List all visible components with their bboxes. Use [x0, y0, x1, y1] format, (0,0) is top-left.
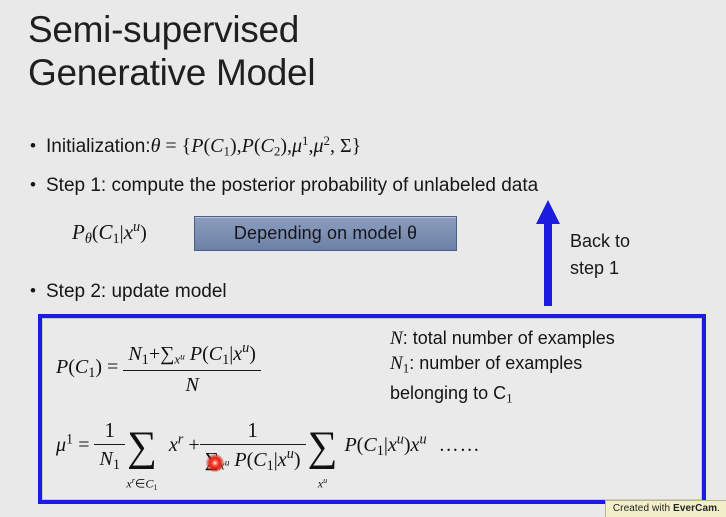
eq2-tail-x-sup: u	[397, 431, 404, 447]
up-arrow-icon	[535, 200, 561, 306]
eq1-num-close: )	[249, 343, 256, 365]
depending-on-model-box: Depending on model θ	[194, 216, 457, 251]
eq2-term-x: x	[169, 434, 178, 456]
init-paren4: ),	[280, 135, 292, 157]
title-line-1: Semi-supervised	[28, 8, 588, 51]
back-caption-line-1: Back to	[570, 228, 630, 255]
eq1-equals: =	[107, 356, 118, 378]
legend-line-1-text: : total number of examples	[403, 328, 615, 348]
init-equals: = {	[160, 135, 191, 157]
eq1-denominator: N	[123, 371, 261, 397]
eq2-frac1-den: N1	[94, 445, 124, 474]
bullet-marker: •	[30, 134, 46, 158]
eq2-tail-c: C	[363, 434, 376, 456]
eq2-plus: +	[188, 434, 199, 456]
eq2-frac2-den-x-sup: u	[287, 446, 294, 462]
eq2-frac2-num: 1	[200, 418, 306, 445]
eq1-c: C	[75, 356, 88, 378]
eq2-frac2-den-c-sub: 1	[267, 458, 274, 474]
watermark-suffix: .	[717, 503, 720, 514]
init-mu2: μ	[314, 135, 324, 157]
slide-canvas: Semi-supervised Generative Model •Initia…	[0, 0, 726, 517]
bullet-step-2-label: Step 2: update model	[46, 281, 227, 302]
posterior-expression: Pθ(C1|xu)	[72, 219, 147, 248]
bullet-step-2: •Step 2: update model	[30, 279, 227, 304]
init-p2: P	[242, 135, 254, 157]
bullet-initialization: •Initialization:θ = {P(C1),P(C2),μ1,μ2, …	[30, 129, 361, 164]
eq2-fraction-1: 1 N1	[94, 418, 124, 474]
eq2-fraction-2: 1 ∑xu P(C1|xu)	[200, 418, 306, 475]
init-c2: C	[261, 135, 274, 157]
eq1-numerator: N1+∑xu P(C1|xu)	[123, 340, 261, 371]
equation-mean-update: μ1 = 1 N1 ∑xr∈C1 xr + 1 ∑xu P(C1|xu) ∑xu…	[56, 418, 481, 475]
watermark-brand: EverCam	[673, 503, 717, 514]
legend-line-3: belonging to C1	[390, 381, 615, 411]
update-model-formula-box: P(C1) = N1+∑xu P(C1|xu) N μ1 = 1 N1 ∑xr∈…	[38, 314, 706, 504]
eq2-sum1-lim-c: C	[145, 477, 153, 491]
equation-prior-update: P(C1) = N1+∑xu P(C1|xu) N	[56, 340, 261, 397]
legend-line-3-text: belonging to C	[390, 383, 506, 403]
eq2-mu: μ	[56, 434, 66, 456]
legend-n1-symbol: N	[390, 353, 403, 374]
back-caption-line-2: step 1	[570, 255, 630, 282]
eq1-num-c: C	[209, 343, 222, 365]
posterior-c-sub: 1	[113, 231, 120, 247]
legend-line-2-text: : number of examples	[409, 353, 582, 373]
eq2-sum2-lim-sup: u	[323, 476, 327, 485]
formula-legend: N: total number of examples N1: number o…	[390, 326, 615, 410]
eq1-p: P	[56, 356, 68, 378]
eq2-frac2-den-x: x	[278, 449, 287, 471]
eq2-frac2-den: ∑xu P(C1|xu)	[200, 445, 306, 475]
eq2-frac1-den-sub: 1	[113, 457, 120, 473]
init-c1: C	[210, 135, 223, 157]
bullet-marker: •	[30, 173, 46, 197]
legend-line-2: N1: number of examples	[390, 351, 615, 381]
init-sigma: , Σ}	[330, 135, 361, 157]
eq2-sum-2: ∑xu	[308, 430, 338, 464]
eq1-open: (	[68, 356, 75, 378]
eq2-tail-close: )	[404, 434, 411, 456]
legend-line-1: N: total number of examples	[390, 326, 615, 351]
eq1-num-x: x	[233, 343, 242, 365]
posterior-close-paren: )	[140, 222, 147, 244]
eq2-sum2-limit: xu	[318, 464, 327, 500]
posterior-theta-sub: θ	[85, 231, 92, 247]
init-theta-symbol: θ	[151, 135, 161, 157]
eq2-frac1-den-n: N	[99, 448, 112, 470]
eq2-ellipsis: ……	[439, 434, 481, 456]
back-to-step-caption: Back to step 1	[570, 228, 630, 282]
legend-line-3-sub: 1	[506, 390, 513, 405]
eq2-sp3	[159, 434, 169, 456]
eq2-tail-p: P	[344, 434, 356, 456]
eq2-tail-mult-sup: u	[419, 431, 426, 447]
depending-on-model-label: Depending on model θ	[234, 223, 417, 244]
eq1-num-p: P	[190, 343, 202, 365]
page-title: Semi-supervised Generative Model	[28, 8, 588, 94]
posterior-c: C	[99, 220, 113, 244]
title-line-2: Generative Model	[28, 51, 588, 94]
eq2-tail-c-sub: 1	[377, 443, 384, 459]
init-mu1: μ	[292, 135, 302, 157]
eq1-num-n: N	[128, 343, 141, 365]
eq2-sum1-lim-c-sub: 1	[153, 483, 157, 492]
eq2-frac2-den-p: P	[234, 449, 246, 471]
eq2-sum-1: ∑xr∈C1	[127, 430, 157, 464]
eq1-num-n-sub: 1	[142, 352, 149, 368]
eq2-sum1-lim-in: ∈	[135, 477, 145, 491]
legend-n-symbol: N	[390, 328, 403, 349]
posterior-open-paren: (	[92, 222, 99, 244]
eq2-tail-x: x	[388, 434, 397, 456]
back-to-step-arrow	[535, 200, 561, 306]
init-paren2: ),	[230, 135, 242, 157]
eq2-frac1-num: 1	[94, 418, 124, 445]
watermark-prefix: Created with	[613, 503, 673, 514]
bullet-step-1-label: Step 1: compute the posterior probabilit…	[46, 175, 538, 196]
eq1-num-open: (	[202, 343, 209, 365]
bullet-initialization-label: Initialization:	[46, 136, 151, 157]
bullet-marker: •	[30, 279, 46, 303]
eq2-frac2-den-c: C	[253, 449, 266, 471]
eq1-plus: +	[149, 343, 160, 365]
eq2-equals: =	[78, 434, 89, 456]
posterior-p: P	[72, 220, 85, 244]
eq2-frac2-den-sum: ∑	[205, 449, 219, 471]
eq2-sum1-limit: xr∈C1	[126, 464, 157, 505]
eq2-frac2-close: )	[294, 449, 301, 471]
init-paren3: (	[254, 135, 261, 157]
posterior-x: x	[124, 220, 133, 244]
init-p1: P	[191, 135, 203, 157]
eq1-sum: ∑	[160, 343, 174, 365]
evercam-watermark: Created with EverCam.	[605, 500, 726, 517]
bullet-step-1: •Step 1: compute the posterior probabili…	[30, 173, 538, 198]
eq1-fraction: N1+∑xu P(C1|xu) N	[123, 340, 261, 397]
eq1-den-n: N	[185, 374, 198, 396]
